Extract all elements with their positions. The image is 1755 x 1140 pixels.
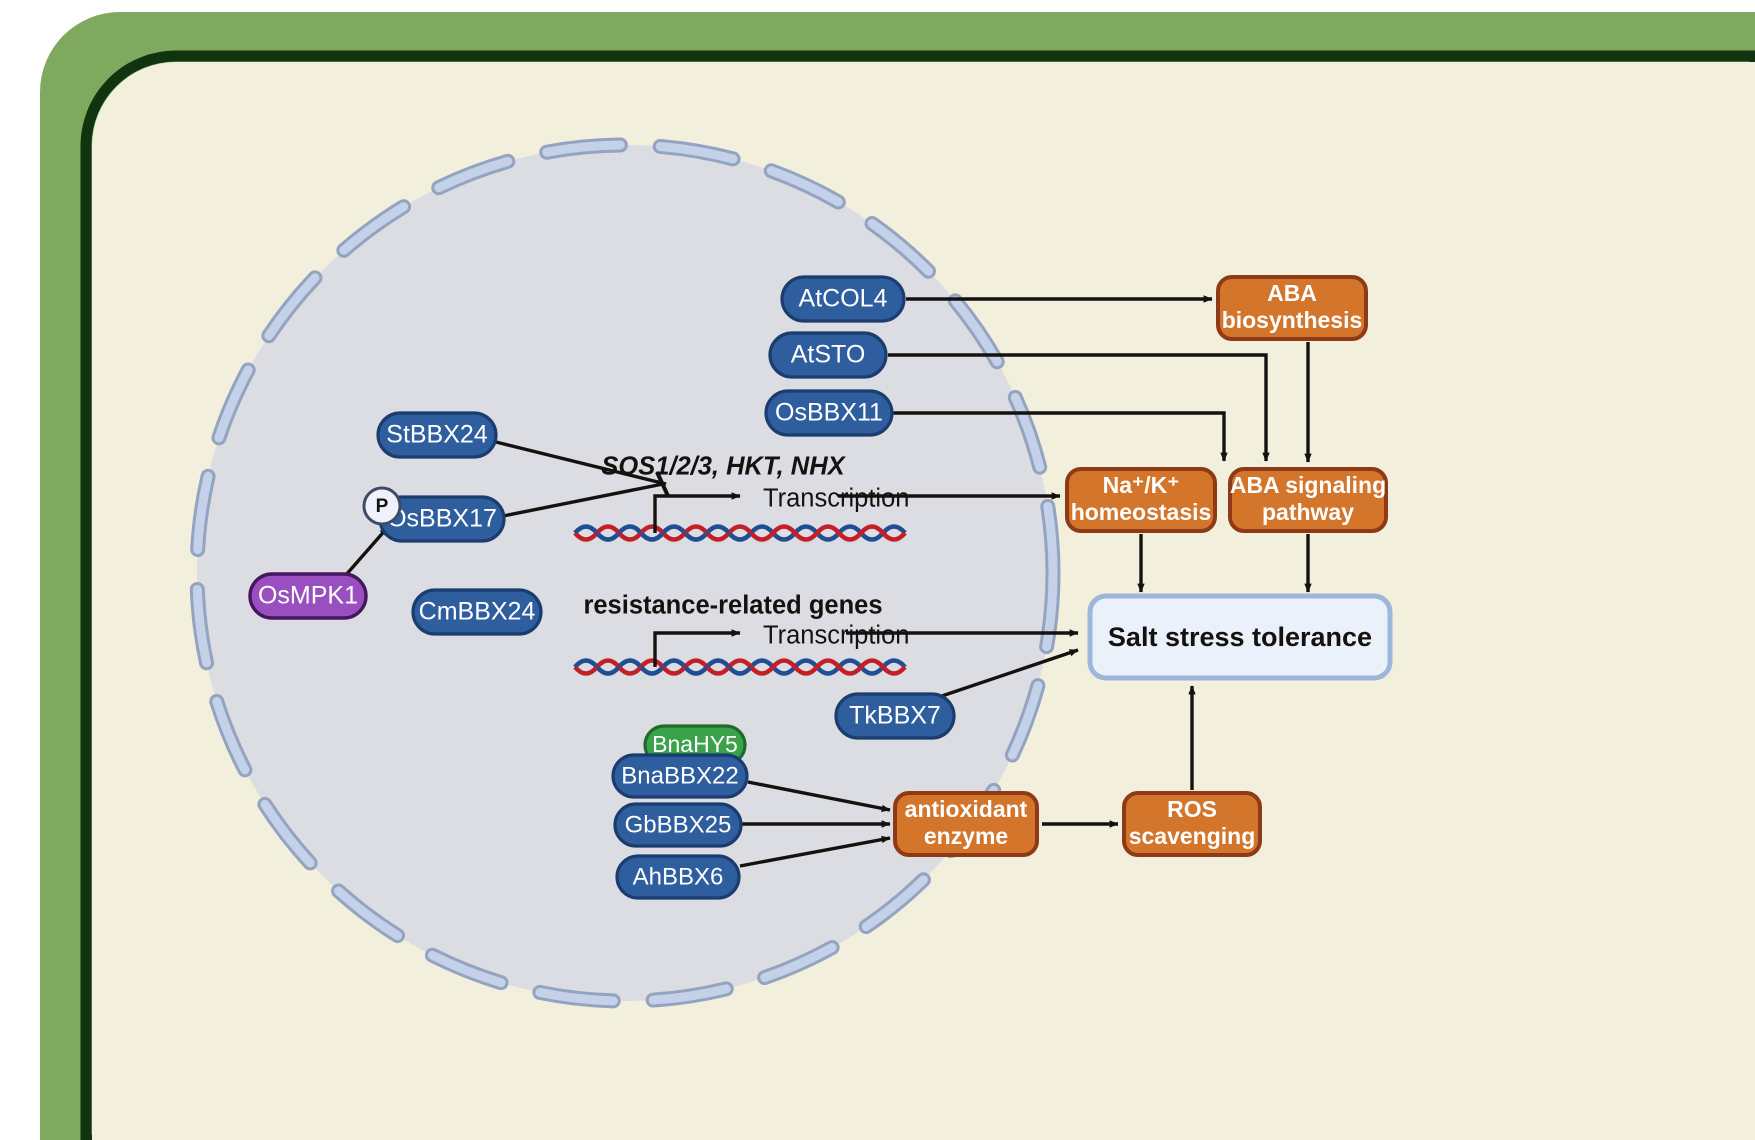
node-atcol4[interactable]: AtCOL4: [782, 277, 904, 321]
node-cmbbx24[interactable]: CmBBX24: [413, 590, 541, 634]
node-tkbbx7[interactable]: TkBBX7: [836, 694, 954, 738]
node-na-k-homeostasis[interactable]: Na⁺/K⁺ homeostasis: [1067, 469, 1215, 531]
gene-names-sos: SOS1/2/3, HKT, NHX: [601, 453, 846, 481]
transcription-label-sos: Transcription: [763, 485, 909, 513]
pathway-diagram: SOS1/2/3, HKT, NHX Transcription resista…: [0, 0, 1755, 1140]
node-osmpk1[interactable]: OsMPK1: [250, 574, 366, 618]
transcription-label-resistance: Transcription: [763, 622, 909, 650]
node-atsto[interactable]: AtSTO: [770, 333, 886, 377]
gene-names-resistance: resistance-related genes: [583, 592, 882, 620]
phosphorylation-marker: P: [364, 488, 400, 524]
node-aba-biosynthesis[interactable]: ABA biosynthesis: [1218, 277, 1366, 339]
node-bnabbx22[interactable]: BnaBBX22: [613, 755, 747, 797]
node-aba-signaling[interactable]: ABA signaling pathway: [1230, 469, 1386, 531]
phospho-label: P: [376, 496, 389, 517]
node-ros-scavenging[interactable]: ROS scavenging: [1124, 793, 1260, 855]
node-osbbx11[interactable]: OsBBX11: [766, 391, 892, 435]
node-antioxidant-enzyme[interactable]: antioxidant enzyme: [895, 793, 1037, 855]
node-ahbbx6[interactable]: AhBBX6: [617, 856, 739, 898]
node-stbbx24[interactable]: StBBX24: [378, 413, 496, 457]
node-gbbbx25[interactable]: GbBBX25: [615, 804, 741, 846]
node-salt-stress-tolerance[interactable]: Salt stress tolerance: [1090, 596, 1390, 678]
